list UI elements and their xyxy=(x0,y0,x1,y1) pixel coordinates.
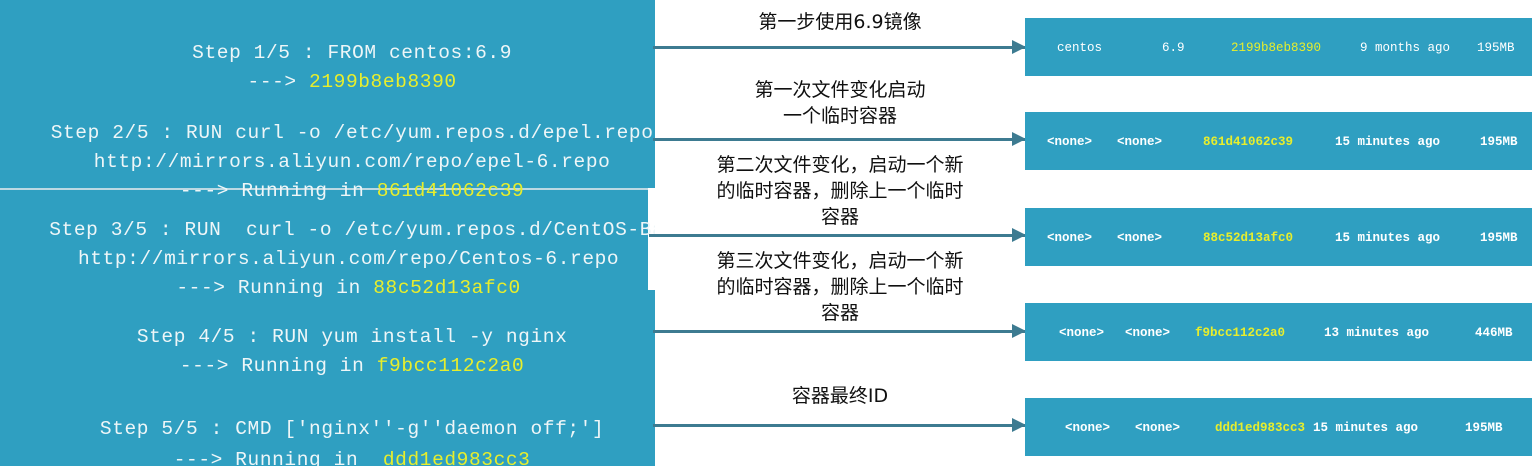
image-tag: <none> xyxy=(1135,422,1180,435)
image-size: 195MB xyxy=(1465,422,1503,435)
image-id: 2199b8eb8390 xyxy=(1231,42,1321,55)
image-id: 861d41062c39 xyxy=(1203,136,1293,149)
annotation-1: 第一步使用6.9镜像 xyxy=(655,9,1025,35)
image-row[interactable]: <none> <none> 861d41062c39 15 minutes ag… xyxy=(1025,112,1532,170)
image-size: 195MB xyxy=(1480,136,1518,149)
flow-arrow-3 xyxy=(649,234,1025,237)
arrow-head-icon xyxy=(1012,228,1026,242)
terminal-container-id-5: ddd1ed983cc3 xyxy=(383,449,531,466)
image-created: 15 minutes ago xyxy=(1313,422,1418,435)
image-size: 446MB xyxy=(1475,327,1513,340)
image-created: 13 minutes ago xyxy=(1324,327,1429,340)
flow-arrow-5 xyxy=(653,424,1025,427)
arrow-head-icon xyxy=(1012,418,1026,432)
image-row[interactable]: <none> <none> f9bcc112c2a0 13 minutes ag… xyxy=(1025,303,1532,361)
flow-arrow-2 xyxy=(653,138,1025,141)
image-tag: 6.9 xyxy=(1162,42,1185,55)
image-repository: <none> xyxy=(1059,327,1104,340)
image-tag: <none> xyxy=(1117,232,1162,245)
image-created: 15 minutes ago xyxy=(1335,136,1440,149)
image-tag: <none> xyxy=(1125,327,1170,340)
terminal-container-id-3: 88c52d13afc0 xyxy=(373,277,521,299)
flow-arrow-4 xyxy=(653,330,1025,333)
image-id: f9bcc112c2a0 xyxy=(1195,327,1285,340)
terminal-running-text-5: ---> Running in xyxy=(174,449,383,466)
terminal-container-id-2: 861d41062c39 xyxy=(377,180,525,202)
annotation-5: 容器最终ID xyxy=(655,383,1025,409)
terminal-line-step4-running: ---> Running in f9bcc112c2a0 xyxy=(0,337,655,396)
terminal-running-text-2: ---> Running in xyxy=(180,180,377,202)
image-repository: <none> xyxy=(1047,136,1092,149)
image-repository: centos xyxy=(1057,42,1102,55)
image-created: 9 months ago xyxy=(1360,42,1450,55)
arrow-head-icon xyxy=(1012,324,1026,338)
annotation-2: 第一次文件变化启动 一个临时容器 xyxy=(655,77,1025,129)
terminal-line-step1-id: ---> 2199b8eb8390 xyxy=(0,53,655,112)
image-created: 15 minutes ago xyxy=(1335,232,1440,245)
terminal-line-step5-running: ---> Running in ddd1ed983cc3 xyxy=(0,431,655,466)
image-id: 88c52d13afc0 xyxy=(1203,232,1293,245)
image-size: 195MB xyxy=(1477,42,1515,55)
image-tag: <none> xyxy=(1117,136,1162,149)
terminal-image-id-1: 2199b8eb8390 xyxy=(309,71,457,93)
image-row[interactable]: <none> <none> ddd1ed983cc3 15 minutes ag… xyxy=(1025,398,1532,456)
image-repository: <none> xyxy=(1047,232,1092,245)
diagram-canvas: Step 1/5 : FROM centos:6.9 ---> 2199b8eb… xyxy=(0,0,1532,466)
terminal-container-id-4: f9bcc112c2a0 xyxy=(377,355,525,377)
annotation-4: 第三次文件变化，启动一个新 的临时容器，删除上一个临时 容器 xyxy=(655,248,1025,327)
image-size: 195MB xyxy=(1480,232,1518,245)
flow-arrow-1 xyxy=(653,46,1025,49)
arrow-head-icon xyxy=(1012,40,1026,54)
annotation-3: 第二次文件变化，启动一个新 的临时容器，删除上一个临时 容器 xyxy=(655,152,1025,231)
image-repository: <none> xyxy=(1065,422,1110,435)
arrow-head-icon xyxy=(1012,132,1026,146)
terminal-running-text-3: ---> Running in xyxy=(176,277,373,299)
image-row[interactable]: <none> <none> 88c52d13afc0 15 minutes ag… xyxy=(1025,208,1532,266)
image-id: ddd1ed983cc3 xyxy=(1215,422,1305,435)
terminal-running-text-4: ---> Running in xyxy=(180,355,377,377)
image-row[interactable]: centos 6.9 2199b8eb8390 9 months ago 195… xyxy=(1025,18,1532,76)
terminal-arrow-text: ---> xyxy=(248,71,310,93)
